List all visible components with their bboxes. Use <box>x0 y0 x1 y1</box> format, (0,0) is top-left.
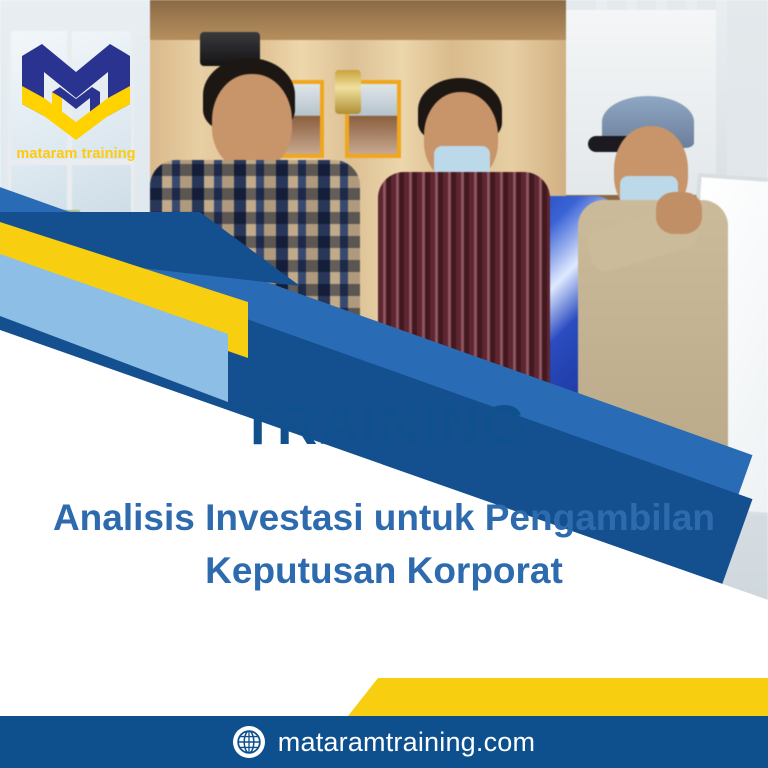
mataram-m-logo-icon <box>20 42 132 142</box>
page-subtitle: Analisis Investasi untuk Pengambilan Kep… <box>6 492 762 597</box>
brand-logo[interactable]: mataram training <box>14 42 138 170</box>
website-url[interactable]: mataramtraining.com <box>278 727 535 758</box>
subtitle-line-1: Analisis Investasi untuk Pengambilan <box>6 492 762 545</box>
photo-wall-emblem <box>335 70 361 114</box>
subtitle-line-2: Keputusan Korporat <box>6 545 762 598</box>
globe-icon <box>233 726 265 758</box>
logo-wordmark: mataram training <box>14 146 138 162</box>
poster-canvas: mataram training TRAINING Analisis Inves… <box>0 0 768 768</box>
footer-bar: mataramtraining.com <box>0 716 768 768</box>
person1-head <box>212 74 292 170</box>
page-title: TRAINING <box>0 392 768 457</box>
